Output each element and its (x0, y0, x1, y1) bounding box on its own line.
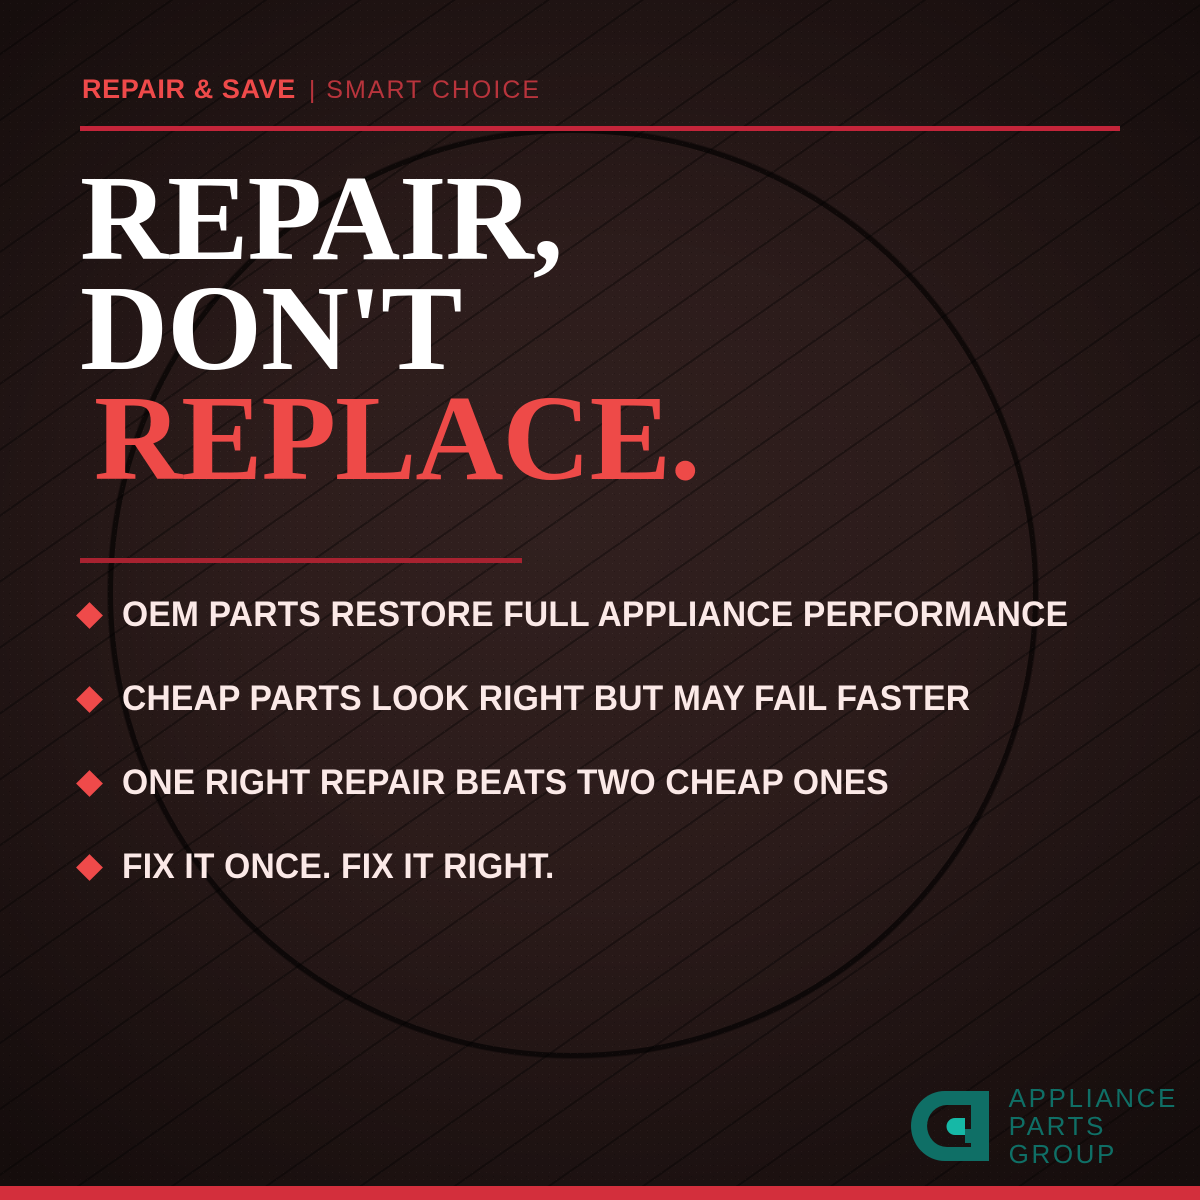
diamond-bullet-icon (76, 770, 103, 797)
diamond-bullet-icon (76, 686, 103, 713)
list-item: OEM PARTS RESTORE FULL APPLIANCE PERFORM… (80, 588, 1140, 642)
headline-line-3: REPLACE. (80, 384, 699, 494)
brand-line-1: APPLIANCE (1009, 1084, 1178, 1112)
footer-accent-bar (0, 1186, 1200, 1200)
eyebrow-header: REPAIR & SAVE | SMART CHOICE (82, 74, 541, 105)
headline-line-1: REPAIR, (80, 164, 699, 274)
poster-content: REPAIR & SAVE | SMART CHOICE REPAIR, DON… (0, 0, 1200, 1200)
eyebrow-main-label: REPAIR & SAVE (82, 74, 296, 105)
eyebrow-sub-label: | SMART CHOICE (309, 76, 541, 105)
brand-logo: APPLIANCE PARTS GROUP (909, 1084, 1178, 1168)
poster-canvas: REPAIR & SAVE | SMART CHOICE REPAIR, DON… (0, 0, 1200, 1200)
brand-line-3: GROUP (1009, 1140, 1178, 1168)
brand-logo-text: APPLIANCE PARTS GROUP (1009, 1084, 1178, 1168)
brand-line-2: PARTS (1009, 1112, 1178, 1140)
list-item: FIX IT ONCE. FIX IT RIGHT. (80, 840, 1140, 894)
diamond-bullet-icon (76, 854, 103, 881)
benefits-list: OEM PARTS RESTORE FULL APPLIANCE PERFORM… (80, 588, 1140, 894)
g-monogram-icon (909, 1085, 993, 1167)
diamond-bullet-icon (76, 602, 103, 629)
list-item-label: ONE RIGHT REPAIR BEATS TWO CHEAP ONES (122, 763, 889, 803)
header-divider-rule (80, 126, 1120, 131)
list-item-label: FIX IT ONCE. FIX IT RIGHT. (122, 847, 554, 887)
list-item-label: CHEAP PARTS LOOK RIGHT BUT MAY FAIL FAST… (122, 679, 970, 719)
page-title: REPAIR, DON'T REPLACE. (80, 164, 699, 494)
list-item: ONE RIGHT REPAIR BEATS TWO CHEAP ONES (80, 756, 1140, 810)
list-item-label: OEM PARTS RESTORE FULL APPLIANCE PERFORM… (122, 595, 1068, 635)
headline-line-2: DON'T (80, 274, 699, 384)
headline-divider-rule (80, 558, 522, 563)
list-item: CHEAP PARTS LOOK RIGHT BUT MAY FAIL FAST… (80, 672, 1140, 726)
